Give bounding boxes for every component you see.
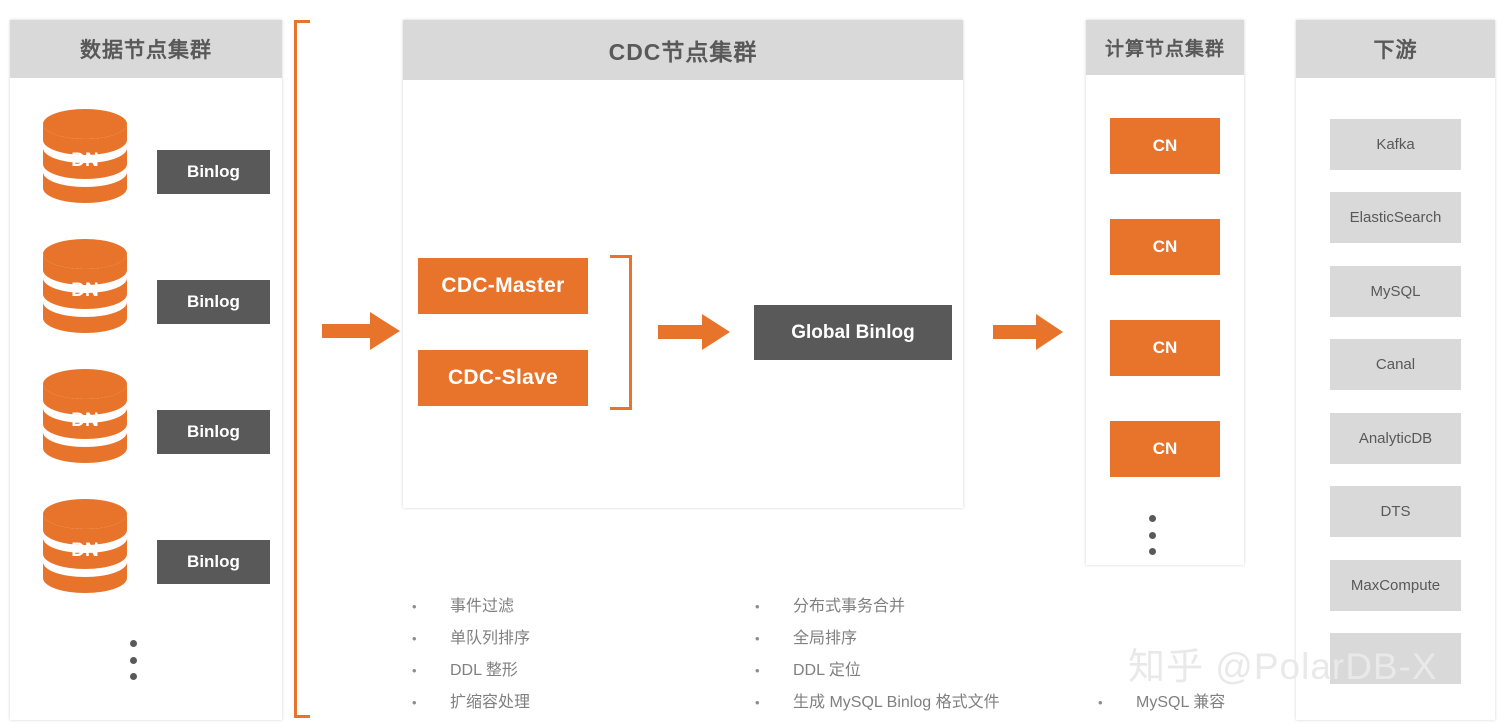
bullet-marker: • <box>412 695 450 710</box>
database-cylinder-icon: DN <box>35 238 135 338</box>
list-item-label: 事件过滤 <box>450 592 514 616</box>
list-item-label: 全局排序 <box>793 624 857 648</box>
cdc-group-bracket <box>610 255 632 410</box>
data-node-row: DN Binlog <box>10 238 282 368</box>
list-item: • MySQL 兼容 <box>1098 688 1348 720</box>
list-item: • DDL 整形 <box>412 656 712 688</box>
list-item: • 扩缩容处理 <box>412 688 712 720</box>
list-item-label: 生成 MySQL Binlog 格式文件 <box>793 688 1000 712</box>
data-node-group-bracket <box>294 20 310 718</box>
binlog-box: Binlog <box>157 150 270 194</box>
binlog-box: Binlog <box>157 540 270 584</box>
binlog-box: Binlog <box>157 410 270 454</box>
global-binlog-features-list: • 分布式事务合并 • 全局排序 • DDL 定位 • 生成 MySQL Bin… <box>755 592 1085 720</box>
architecture-diagram: 数据节点集群 DN Binlog DN Binlog DN Bi <box>0 0 1510 727</box>
bullet-marker: • <box>755 599 793 614</box>
bullet-marker: • <box>755 631 793 646</box>
data-node-label: DN <box>71 540 98 561</box>
compute-node-box: CN <box>1110 219 1220 275</box>
downstream-item: MySQL <box>1330 266 1461 317</box>
compute-node-box: CN <box>1110 118 1220 174</box>
bullet-marker: • <box>755 663 793 678</box>
cdc-slave-box: CDC-Slave <box>418 350 588 406</box>
downstream-item: AnalyticDB <box>1330 413 1461 464</box>
bullet-marker: • <box>412 599 450 614</box>
cdc-node-cluster-title: CDC节点集群 <box>403 20 963 80</box>
downstream-item: ElasticSearch <box>1330 192 1461 243</box>
arrow-global-binlog-to-cn-icon <box>993 314 1063 350</box>
cdc-features-list: • 事件过滤 • 单队列排序 • DDL 整形 • 扩缩容处理 <box>412 592 712 720</box>
bullet-marker: • <box>412 663 450 678</box>
data-node-row: DN Binlog <box>10 498 282 628</box>
data-node-label: DN <box>71 150 98 171</box>
downstream-item <box>1330 633 1461 684</box>
arrow-dn-to-cdc-icon <box>322 312 400 350</box>
list-item-label: 单队列排序 <box>450 624 530 648</box>
list-item: • DDL 定位 <box>755 656 1085 688</box>
data-node-row: DN Binlog <box>10 108 282 238</box>
list-item-label: 分布式事务合并 <box>793 592 905 616</box>
list-item: • 生成 MySQL Binlog 格式文件 <box>755 688 1085 720</box>
list-item: • 分布式事务合并 <box>755 592 1085 624</box>
list-item-label: DDL 定位 <box>793 656 861 680</box>
bullet-marker: • <box>755 695 793 710</box>
list-item: • 事件过滤 <box>412 592 712 624</box>
list-item-label: MySQL 兼容 <box>1136 688 1225 712</box>
compute-node-more-ellipsis-icon <box>1149 515 1156 555</box>
arrow-cdc-to-global-binlog-icon <box>658 314 730 350</box>
compute-node-cluster-panel: 计算节点集群 <box>1086 20 1244 565</box>
data-node-row: DN Binlog <box>10 368 282 498</box>
downstream-item: Canal <box>1330 339 1461 390</box>
compute-node-box: CN <box>1110 320 1220 376</box>
list-item: • 全局排序 <box>755 624 1085 656</box>
data-node-label: DN <box>71 410 98 431</box>
bullet-marker: • <box>1098 695 1136 710</box>
database-cylinder-icon: DN <box>35 368 135 468</box>
list-item: • 单队列排序 <box>412 624 712 656</box>
data-node-more-ellipsis-icon <box>130 640 137 680</box>
database-cylinder-icon: DN <box>35 498 135 598</box>
data-node-label: DN <box>71 280 98 301</box>
list-item-label: 扩缩容处理 <box>450 688 530 712</box>
list-item-label: DDL 整形 <box>450 656 518 680</box>
global-binlog-box: Global Binlog <box>754 305 952 360</box>
binlog-box: Binlog <box>157 280 270 324</box>
bullet-marker: • <box>412 631 450 646</box>
database-cylinder-icon: DN <box>35 108 135 208</box>
downstream-item: MaxCompute <box>1330 560 1461 611</box>
downstream-item: Kafka <box>1330 119 1461 170</box>
cdc-master-box: CDC-Master <box>418 258 588 314</box>
compute-node-box: CN <box>1110 421 1220 477</box>
downstream-title: 下游 <box>1296 20 1495 78</box>
compute-node-cluster-title: 计算节点集群 <box>1086 20 1244 75</box>
downstream-features-list: • MySQL 兼容 <box>1098 688 1348 720</box>
data-node-cluster-title: 数据节点集群 <box>10 20 282 78</box>
downstream-item: DTS <box>1330 486 1461 537</box>
